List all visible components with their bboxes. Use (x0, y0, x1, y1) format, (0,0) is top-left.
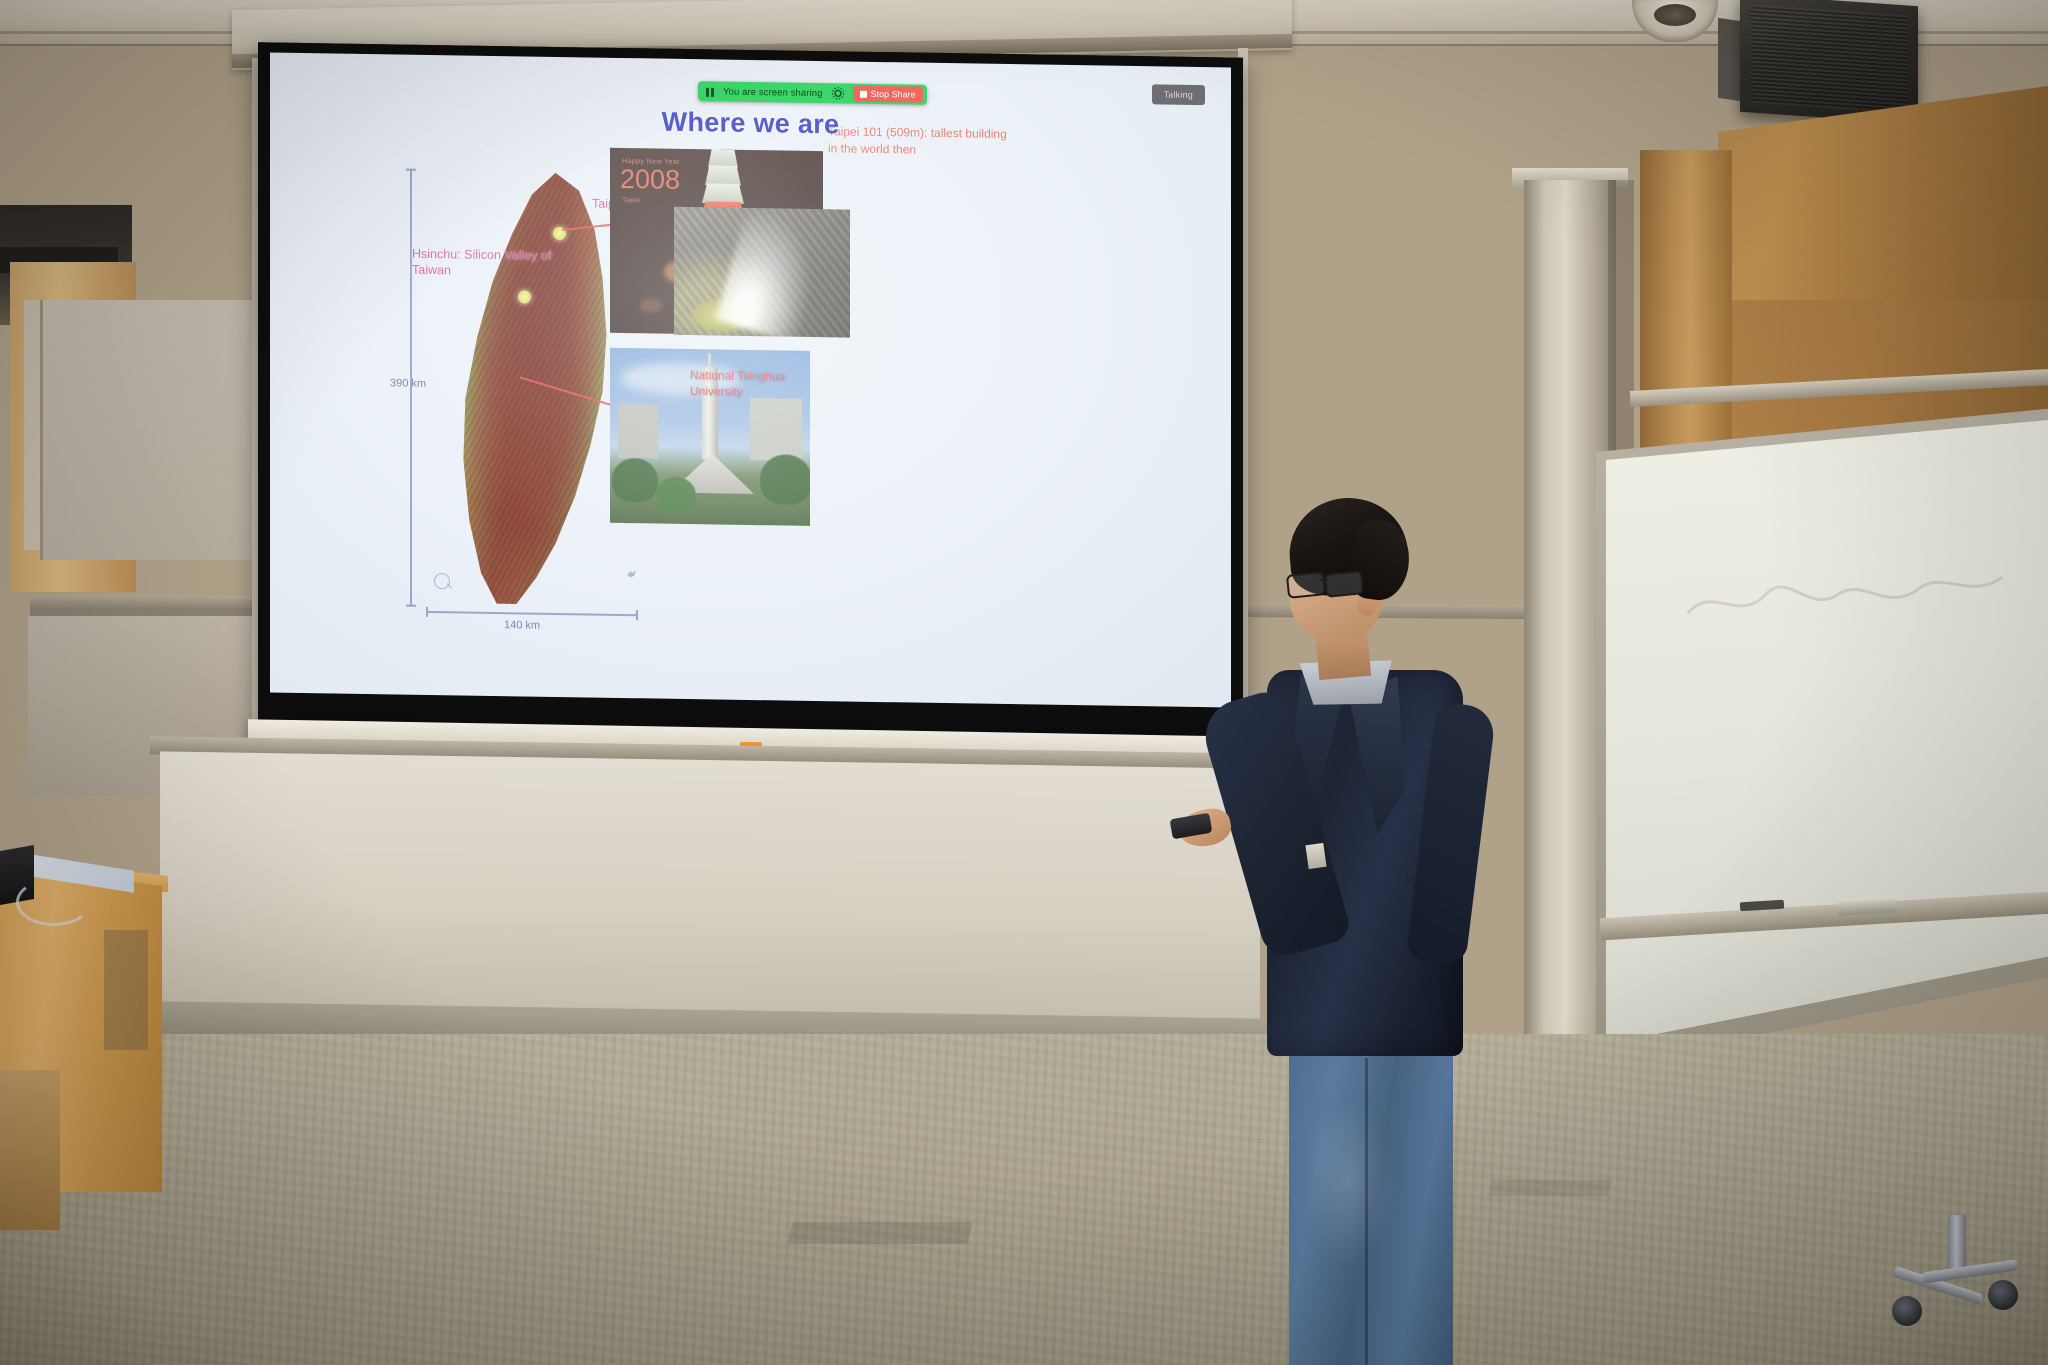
map-compass-icon (434, 573, 450, 589)
campus-tree-left (612, 458, 658, 503)
floor (0, 1034, 2048, 1365)
pause-icon[interactable] (704, 85, 716, 97)
campus-building-right (750, 398, 802, 461)
photo-fumarole (674, 207, 850, 338)
terrain-texture (434, 171, 630, 610)
talking-indicator: Talking (1152, 84, 1205, 105)
share-status-text: You are screen sharing (723, 86, 823, 99)
podium-wall (160, 751, 1260, 1038)
slide-title: Where we are (270, 100, 1231, 146)
map-bird-icon (626, 566, 638, 576)
floor-vent (787, 1222, 972, 1244)
wall-panel-left-upper (40, 300, 258, 560)
ceiling-lamp-glass (1654, 4, 1696, 26)
photo-overlay-city: Taipei (622, 197, 640, 204)
stop-square-icon (860, 90, 867, 97)
gear-icon[interactable] (831, 86, 845, 100)
campus-building-left (618, 404, 658, 459)
eyeglasses-icon (1287, 572, 1373, 594)
campus-tree-right (760, 454, 810, 505)
map-scale-horizontal-bar (426, 611, 638, 616)
campus-shrub (656, 477, 696, 514)
whiteboard-eraser[interactable] (1838, 896, 1897, 915)
photo-overlay-year: 2008 (620, 166, 680, 194)
whiteboard[interactable] (1606, 420, 2048, 1044)
taiwan-landmass (434, 171, 630, 610)
photo-nthu-campus: National Tsinghua University (610, 348, 810, 526)
chair-wheel-left (1892, 1296, 1922, 1326)
zoom-share-banner[interactable]: You are screen sharing Stop Share (698, 81, 927, 105)
marker-hsinchu (518, 290, 531, 303)
chair-wheel-right (1988, 1280, 2018, 1310)
wall-speaker (1740, 0, 1918, 124)
name-badge (1305, 843, 1326, 869)
stop-share-button[interactable]: Stop Share (853, 86, 923, 103)
eyeglass-bridge (1320, 579, 1328, 581)
chair-base[interactable] (1892, 1262, 2022, 1338)
eyeglass-lens-front (1286, 571, 1326, 599)
map-scale-horizontal-label: 140 km (504, 619, 540, 632)
projection-screen: You are screen sharing Stop Share Talkin… (258, 42, 1243, 747)
slide-canvas: You are screen sharing Stop Share Talkin… (270, 52, 1231, 707)
jeans-seam (1365, 1058, 1368, 1365)
carpet-texture (0, 1034, 2048, 1365)
eyeglass-lens-back (1324, 570, 1364, 598)
caption-nthu: National Tsinghua University (690, 367, 810, 401)
lectern-shadow-side (104, 930, 148, 1050)
speaker-grill (1750, 4, 1908, 113)
map-scale-vertical-label: 390 km (390, 377, 426, 390)
label-hsinchu: Hsinchu: Silicon Valley of Taiwan (412, 247, 562, 281)
stop-share-label: Stop Share (871, 89, 916, 100)
cable (16, 878, 92, 926)
jeans-highlight (1305, 1098, 1395, 1268)
screenshot-root: You are screen sharing Stop Share Talkin… (0, 0, 2048, 1365)
screen-border: You are screen sharing Stop Share Talkin… (258, 42, 1243, 747)
presenter (1245, 498, 1485, 1328)
floor-vent-secondary (1488, 1180, 1613, 1196)
lectern-side-panel (0, 1070, 60, 1230)
